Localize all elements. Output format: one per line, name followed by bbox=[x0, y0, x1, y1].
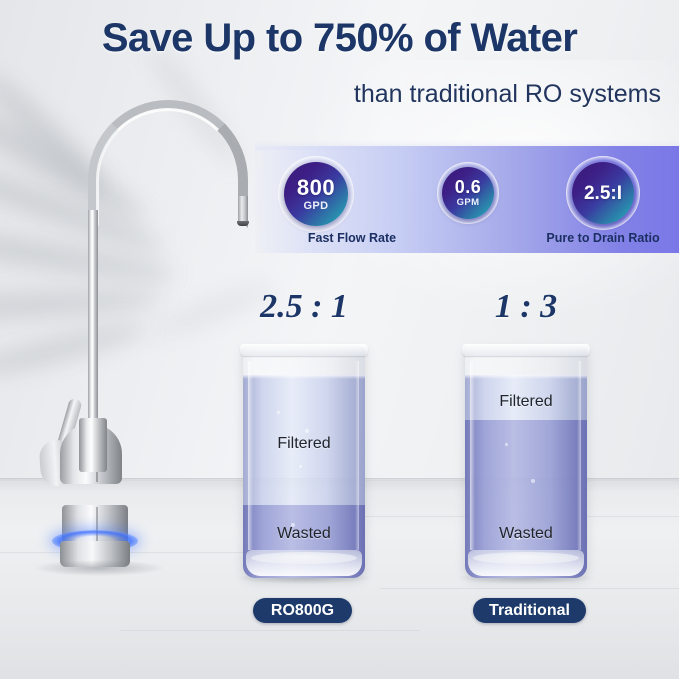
glass-highlight-left bbox=[248, 361, 253, 550]
infographic-canvas: Save Up to 750% of Water than traditiona… bbox=[0, 0, 679, 679]
page-subtitle: than traditional RO systems bbox=[0, 80, 679, 109]
badge-unit: GPM bbox=[457, 198, 480, 208]
bubble bbox=[305, 429, 309, 433]
glass-base bbox=[468, 550, 584, 576]
glass-highlight-left bbox=[470, 361, 475, 550]
product-label-traditional: Traditional bbox=[473, 598, 586, 623]
glass-base bbox=[246, 550, 362, 576]
faucet-shadow bbox=[34, 560, 164, 576]
spec-badge-drain-ratio: 2.5:I bbox=[566, 156, 640, 230]
glass-rim-left bbox=[240, 344, 368, 356]
product-label-ro800g: RO800G bbox=[253, 598, 352, 623]
badge-unit: GPD bbox=[303, 201, 328, 212]
badge-caption-drain-ratio: Pure to Drain Ratio bbox=[533, 231, 673, 245]
page-title: Save Up to 750% of Water bbox=[0, 16, 679, 61]
glass-rim-right bbox=[462, 344, 590, 356]
badge-disc-icon: 800 GPD bbox=[284, 162, 348, 226]
ratio-label-right: 1 : 3 bbox=[462, 288, 590, 326]
wasted-label-right: Wasted bbox=[465, 525, 587, 543]
counter-vein bbox=[380, 588, 679, 589]
filtered-label-right: Filtered bbox=[465, 393, 587, 411]
bubble bbox=[531, 479, 535, 483]
water-surface-left bbox=[243, 375, 365, 379]
faucet-stem bbox=[88, 210, 98, 425]
bubble bbox=[277, 411, 280, 414]
glass-highlight-right bbox=[577, 361, 581, 550]
badge-caption-flow-rate: Fast Flow Rate bbox=[282, 231, 422, 245]
badge-disc-icon: 0.6 GPM bbox=[442, 167, 494, 219]
glass-highlight-right bbox=[355, 361, 359, 550]
badge-value: 2.5:I bbox=[584, 184, 622, 203]
spec-badge-flow-rate: 800 GPD bbox=[278, 156, 354, 232]
bubble bbox=[505, 443, 508, 446]
ratio-label-left: 2.5 : 1 bbox=[240, 288, 368, 326]
spec-badge-gpm: 0.6 GPM bbox=[437, 162, 499, 224]
filtered-label-left: Filtered bbox=[243, 435, 365, 453]
glass-body-left bbox=[243, 347, 365, 578]
faucet-neck bbox=[79, 418, 107, 472]
glass-body-right bbox=[465, 347, 587, 578]
faucet-spout-tip bbox=[237, 221, 249, 226]
water-surface-right bbox=[465, 375, 587, 379]
water-glass-icon-left: Filtered Wasted bbox=[243, 347, 365, 578]
bubble bbox=[299, 465, 302, 468]
badge-disc-icon: 2.5:I bbox=[572, 162, 634, 224]
counter-vein bbox=[120, 630, 420, 631]
badge-value: 800 bbox=[297, 177, 335, 199]
wasted-label-left: Wasted bbox=[243, 525, 365, 543]
badge-value: 0.6 bbox=[455, 178, 482, 196]
water-glass-icon-right: Filtered Wasted bbox=[465, 347, 587, 578]
